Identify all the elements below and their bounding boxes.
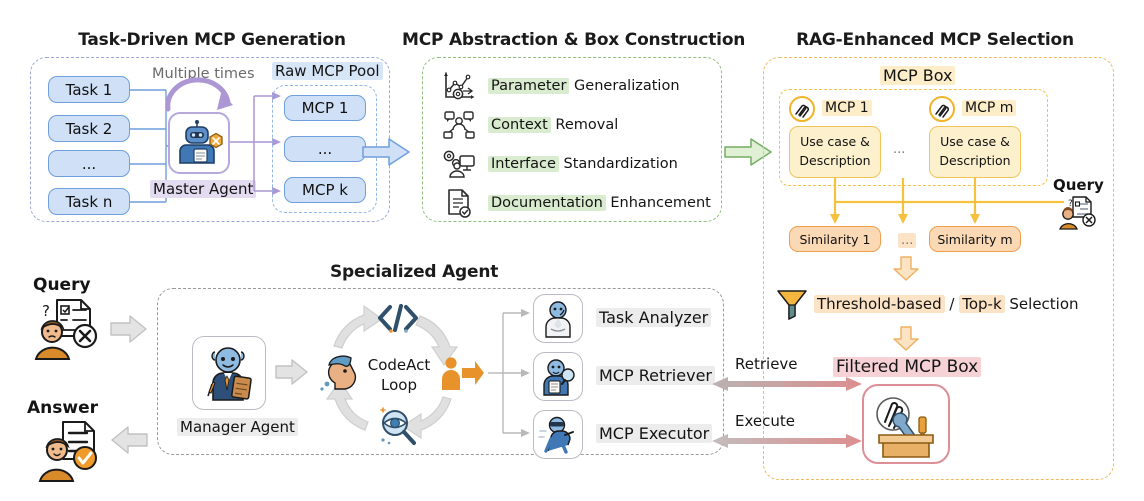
codeact-loop-label-line1: CodeAct xyxy=(364,355,434,375)
task-box-1[interactable]: Task 1 xyxy=(48,76,130,103)
manager-agent-tile[interactable] xyxy=(192,336,266,410)
execute-label: Execute xyxy=(735,412,795,430)
pool-item-mcp-1[interactable]: MCP 1 xyxy=(284,95,366,121)
mcp-cards-ellipsis: ... xyxy=(893,142,905,157)
mcp-m-logo-ring xyxy=(929,96,955,122)
arrow-query-to-specialized xyxy=(110,314,148,344)
execute-arrow xyxy=(712,433,862,449)
thinking-head-icon xyxy=(318,354,358,392)
mcp-1-card-line1: Use case & xyxy=(800,133,870,152)
filtered-mcp-box-label: Filtered MCP Box xyxy=(833,357,981,377)
feature-row-documentation[interactable]: Documentation Enhancement xyxy=(442,188,711,218)
mcp-m-card[interactable]: Use case & Description xyxy=(929,126,1021,178)
role-tile-task-analyzer[interactable] xyxy=(533,294,583,343)
mcp-m-card-line2: Description xyxy=(939,152,1010,171)
role-tile-mcp-executor[interactable] xyxy=(533,410,583,459)
mcp-m-card-line1: Use case & xyxy=(940,133,1010,152)
query-label-left: Query xyxy=(33,275,91,295)
task-box-4[interactable]: Task n xyxy=(48,188,130,215)
gear-monitor-icon xyxy=(442,149,476,179)
selection-rule-label: Threshold-based / Top-k Selection xyxy=(814,295,1079,313)
robot-retriever-icon xyxy=(538,357,578,397)
funnel-icon xyxy=(776,288,808,322)
robot-executor-icon xyxy=(538,415,578,455)
person-arrow-icon xyxy=(440,356,484,392)
feature-row-context[interactable]: Context Removal xyxy=(442,110,618,140)
feature-label-documentation: Documentation Enhancement xyxy=(488,195,711,211)
mcp-logo-icon xyxy=(794,101,811,118)
mcp-toolbox-icon xyxy=(867,389,945,461)
retrieve-label: Retrieve xyxy=(735,355,798,373)
mcp-1-card[interactable]: Use case & Description xyxy=(789,126,881,178)
task-box-2[interactable]: Task 2 xyxy=(48,115,130,142)
similarity-routing-connector xyxy=(779,178,1069,228)
role-label-mcp-executor: MCP Executor xyxy=(596,424,712,443)
mcp-1-card-line2: Description xyxy=(799,152,870,171)
role-label-mcp-retriever: MCP Retriever xyxy=(596,366,715,385)
feature-label-parameter: Parameter Generalization xyxy=(488,78,680,94)
feature-row-parameter[interactable]: Parameter Generalization xyxy=(442,71,680,101)
chart-gear-icon xyxy=(442,71,476,101)
network-chat-icon xyxy=(442,110,476,140)
retrieve-arrow xyxy=(712,376,862,392)
arrow-down-to-filtered-box xyxy=(893,326,919,352)
svg-text:?: ? xyxy=(42,302,50,320)
feature-label-interface: Interface Standardization xyxy=(488,156,678,172)
loop-to-roles-connector xyxy=(487,305,533,441)
master-agent-tile[interactable] xyxy=(168,112,230,174)
robot-analyst-icon xyxy=(538,299,578,339)
panel-title-selection: RAG-Enhanced MCP Selection xyxy=(785,30,1085,50)
similarity-box-m[interactable]: Similarity m xyxy=(929,226,1021,252)
codeact-loop-label: CodeAct Loop xyxy=(364,355,434,396)
arrow-generation-to-abstraction xyxy=(361,137,413,171)
pool-item-ellipsis[interactable]: ... xyxy=(284,136,366,162)
arrow-manager-to-loop xyxy=(275,358,309,386)
mcp-m-name: MCP m xyxy=(962,100,1016,116)
diagram-canvas: Task-Driven MCP Generation Task 1 Task 2… xyxy=(0,0,1144,501)
code-brackets-icon xyxy=(377,303,419,333)
role-tile-mcp-retriever[interactable] xyxy=(533,352,583,401)
raw-mcp-pool-label: Raw MCP Pool xyxy=(272,62,383,80)
arrow-specialized-to-answer xyxy=(110,425,148,455)
similarity-ellipsis: ... xyxy=(898,233,916,248)
person-question-doc-icon: ? xyxy=(28,296,104,360)
filtered-mcp-box[interactable] xyxy=(862,384,950,464)
robot-master-agent-icon xyxy=(174,118,224,168)
mcp-1-name: MCP 1 xyxy=(822,100,872,116)
mcp-box-label: MCP Box xyxy=(880,66,955,85)
mcp-logo-icon xyxy=(934,101,951,118)
answer-label: Answer xyxy=(27,398,98,418)
panel-title-generation: Task-Driven MCP Generation xyxy=(62,30,362,50)
mcp-1-logo-ring xyxy=(789,96,815,122)
similarity-box-1[interactable]: Similarity 1 xyxy=(789,226,881,252)
feature-row-interface[interactable]: Interface Standardization xyxy=(442,149,678,179)
task-box-3[interactable]: ... xyxy=(48,150,130,177)
panel-title-abstraction: MCP Abstraction & Box Construction xyxy=(402,30,742,50)
panel-title-specialized: Specialized Agent xyxy=(330,262,510,282)
pool-item-mcp-k[interactable]: MCP k xyxy=(284,177,366,203)
arrow-down-to-selection-rule xyxy=(893,256,919,282)
manager-agent-label: Manager Agent xyxy=(177,418,298,436)
feature-label-context: Context Removal xyxy=(488,117,618,133)
role-label-task-analyzer: Task Analyzer xyxy=(596,308,711,327)
document-check-icon xyxy=(442,188,476,218)
person-answer-doc-icon xyxy=(33,420,105,482)
codeact-loop-label-line2: Loop xyxy=(364,375,434,395)
manager-robot-icon xyxy=(200,344,258,402)
eye-magnifier-icon xyxy=(375,408,419,446)
